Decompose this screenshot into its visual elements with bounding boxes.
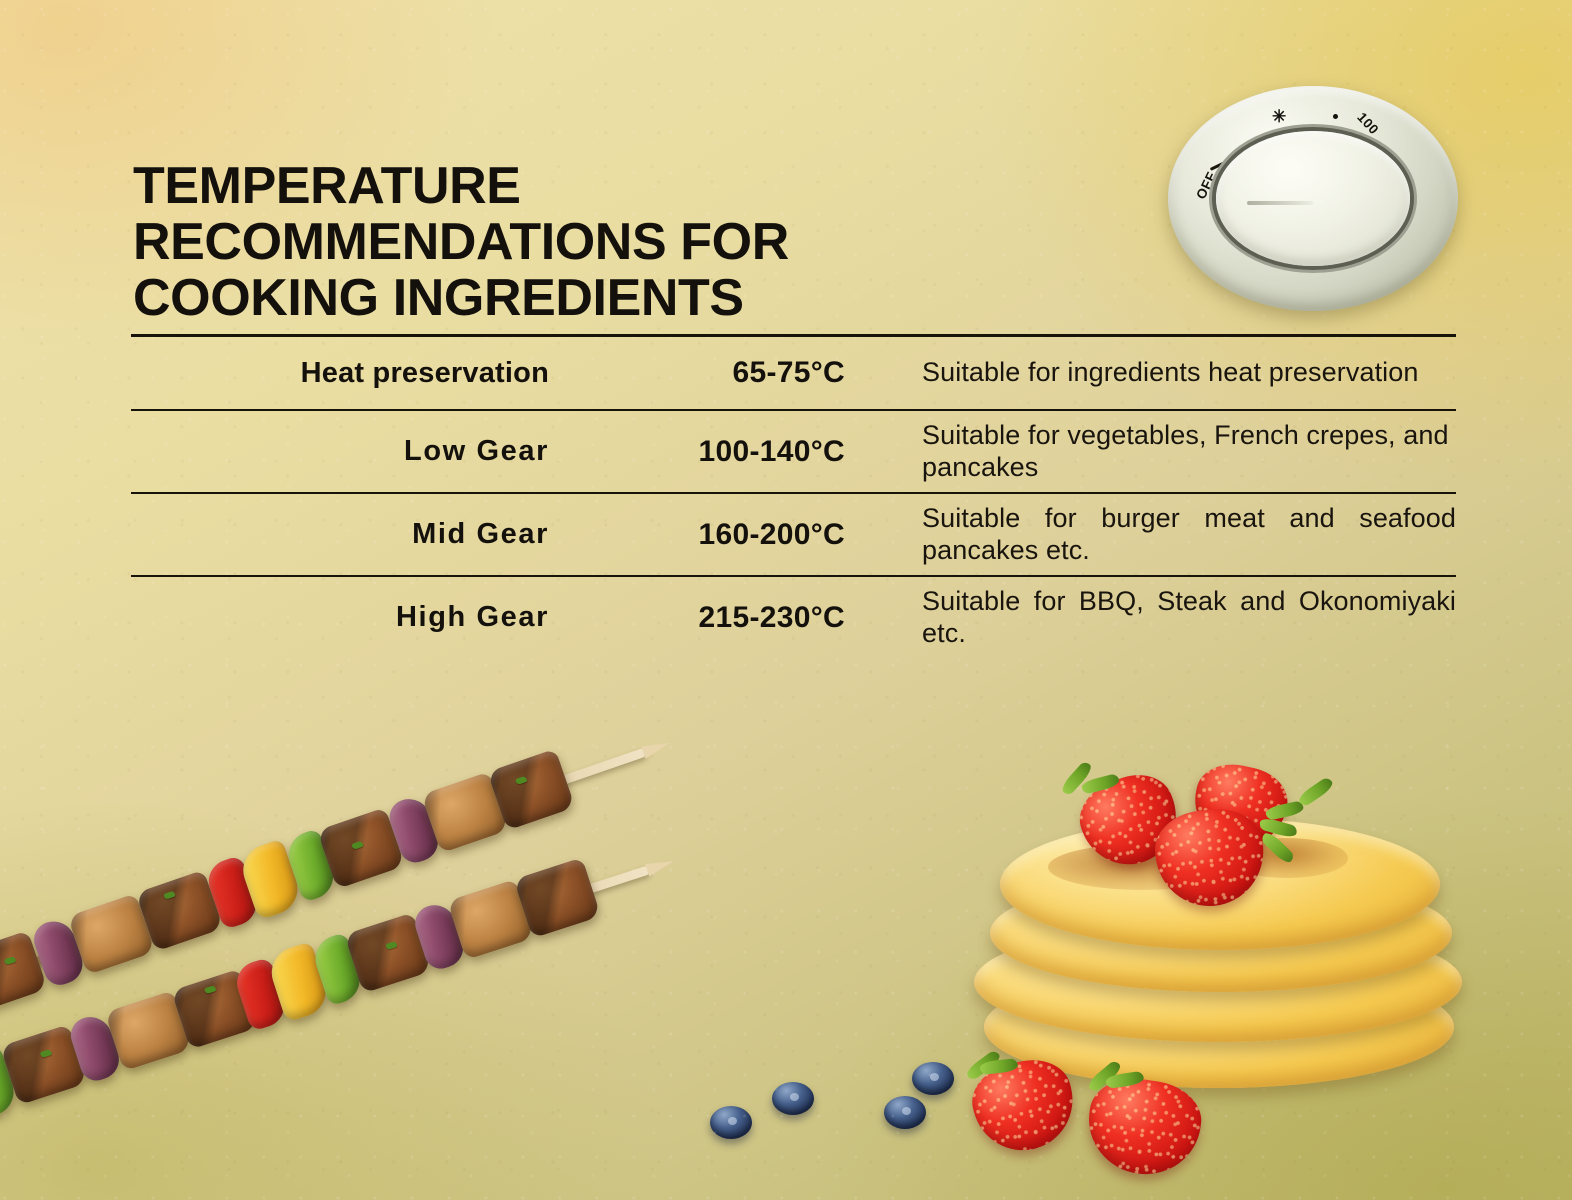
row-label-mid-gear: Mid Gear <box>131 518 549 551</box>
pancake-stack-image <box>960 770 1520 1200</box>
row-description-high-gear: Suitable for BBQ, Steak and Okonomiyaki … <box>854 586 1456 649</box>
table-row: Low Gear 100-140°C Suitable for vegetabl… <box>131 411 1456 492</box>
blueberry-3 <box>884 1096 926 1129</box>
row-temperature-low-gear: 100-140°C <box>549 435 854 469</box>
dial-label-100: 100 <box>1354 110 1381 138</box>
blueberry-4 <box>912 1062 954 1095</box>
table-row: Heat preservation 65-75°C Suitable for i… <box>131 337 1456 409</box>
table-row: Mid Gear 160-200°C Suitable for burger m… <box>131 494 1456 575</box>
dial-dot-icon-1 <box>1333 114 1338 119</box>
kebab-skewers-image <box>0 830 780 1200</box>
table-row: High Gear 215-230°C Suitable for BBQ, St… <box>131 577 1456 658</box>
page-title: TEMPERATURE RECOMMENDATIONS FOR COOKING … <box>133 158 1013 326</box>
row-temperature-heat-preservation: 65-75°C <box>549 356 854 390</box>
strawberry-base-right <box>1082 1073 1206 1182</box>
dial-face[interactable] <box>1216 131 1410 266</box>
title-line-3: COOKING INGREDIENTS <box>133 270 1013 326</box>
row-temperature-mid-gear: 160-200°C <box>549 518 854 552</box>
row-description-mid-gear: Suitable for burger meat and seafood pan… <box>854 503 1456 566</box>
row-label-low-gear: Low Gear <box>131 435 549 468</box>
strawberry-leaf-icon <box>1296 776 1335 808</box>
temperature-recommendations-table: Heat preservation 65-75°C Suitable for i… <box>131 334 1456 658</box>
sun-icon: ✳ <box>1272 110 1286 124</box>
row-label-heat-preservation: Heat preservation <box>131 357 549 390</box>
row-temperature-high-gear: 215-230°C <box>549 601 854 635</box>
row-description-heat-preservation: Suitable for ingredients heat preservati… <box>854 357 1456 389</box>
poster-canvas: TEMPERATURE RECOMMENDATIONS FOR COOKING … <box>0 0 1572 1200</box>
row-description-low-gear: Suitable for vegetables, French crepes, … <box>854 420 1456 483</box>
title-line-1: TEMPERATURE <box>133 158 1013 214</box>
temperature-dial-knob[interactable]: ✳ OFF 100 160 230 <box>1168 86 1458 311</box>
row-label-high-gear: High Gear <box>131 601 549 634</box>
title-line-2: RECOMMENDATIONS FOR <box>133 214 1013 270</box>
